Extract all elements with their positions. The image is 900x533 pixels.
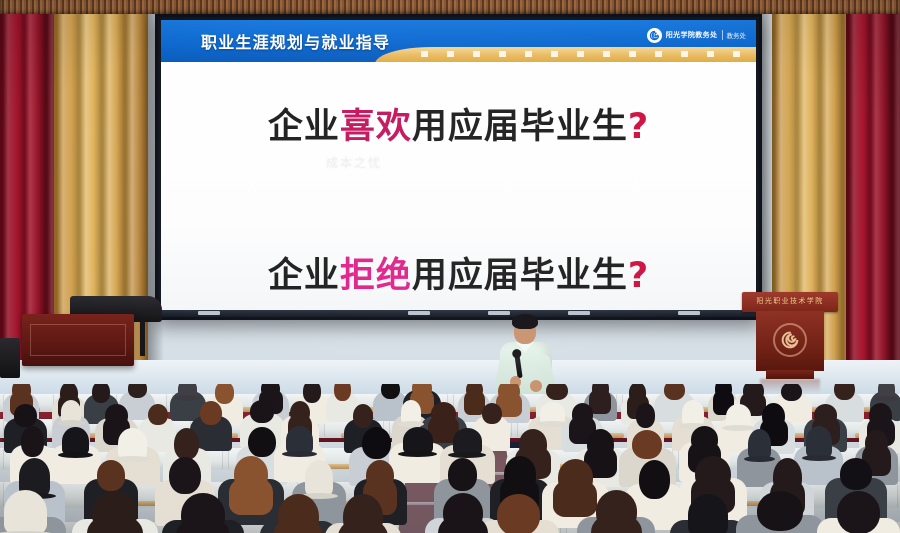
audience-member-head: [448, 458, 478, 491]
grand-piano: [22, 296, 162, 366]
slide-watermark-text: 成本之忧: [326, 154, 382, 171]
podium-body: [756, 311, 824, 371]
spiral-logo-icon: [647, 28, 662, 43]
audience-member-head: [837, 491, 880, 533]
screen-clip: [568, 311, 590, 315]
line1-prefix: 企业: [268, 107, 340, 147]
line2-highlight: 拒绝: [340, 256, 412, 296]
slide-logo-text: 阳光学院教务处: [666, 30, 718, 40]
audience-member-cap: [178, 384, 197, 398]
audience-member-cap: [118, 428, 147, 459]
line1-middle: 用应届毕业生: [412, 107, 628, 147]
line1-question-mark: ?: [628, 107, 649, 147]
audience-member-cap: [4, 490, 47, 533]
audience-member-hair: [589, 389, 611, 414]
audience-member-cap: [806, 426, 832, 458]
audience-area: [0, 384, 900, 533]
audience-member-head: [303, 384, 322, 403]
audience-member-head: [632, 430, 662, 459]
audience-member-head: [482, 403, 502, 425]
lecture-hall-photo: 职业生涯规划与就业指导 阳光学院教务处 教务处 企业喜欢用应届毕业生? 成: [0, 0, 900, 533]
audience-member-head: [148, 404, 167, 426]
audience-member-head: [334, 384, 351, 401]
slide-header-bar: 职业生涯规划与就业指导 阳光学院教务处 教务处: [161, 20, 756, 62]
slide-institution-logo: 阳光学院教务处 教务处: [647, 27, 746, 43]
audience-member-head: [781, 384, 802, 401]
audience-member-head: [639, 460, 670, 498]
audience-member-cap: [453, 428, 482, 454]
audience-member-cap: [748, 429, 771, 459]
line2-middle: 用应届毕业生: [412, 256, 628, 296]
audience-member-head: [97, 460, 126, 491]
slide-logo-subtext: 教务处: [722, 30, 747, 40]
audience-member-head: [21, 426, 44, 456]
projection-screen-surface: 职业生涯规划与就业指导 阳光学院教务处 教务处 企业喜欢用应届毕业生? 成: [161, 20, 756, 310]
audience-member-head: [128, 384, 147, 398]
presenter-hair: [512, 314, 538, 329]
audience-member-head: [248, 427, 275, 457]
audience-member-cap: [305, 460, 333, 496]
audience-member-head: [250, 400, 274, 422]
audience-member-head: [353, 404, 373, 428]
audience-member-hair: [229, 477, 272, 515]
screen-clip: [678, 311, 700, 315]
audience-member-head: [169, 457, 200, 494]
line2-question-mark: ?: [628, 256, 649, 296]
screen-clip: [408, 311, 430, 315]
audience-member-head: [636, 403, 655, 428]
piano-leg: [140, 320, 145, 356]
audience-member-cap: [403, 427, 433, 454]
audience-member-head: [840, 458, 873, 490]
audience-member-cap: [878, 384, 895, 399]
audience-member-head: [14, 404, 36, 427]
slide-question-line-1: 企业喜欢用应届毕业生?: [161, 98, 756, 149]
line1-highlight: 喜欢: [340, 107, 412, 147]
audience-member-head: [497, 494, 539, 533]
screen-bottom-rail: [158, 310, 759, 317]
audience-member-cap: [682, 400, 704, 426]
audience-member-head: [92, 384, 110, 403]
slide-body: 企业喜欢用应届毕业生? 成本之忧 企业拒绝用应届毕业生?: [161, 62, 756, 303]
loudspeaker-cabinet: [0, 338, 20, 378]
slide-question-line-2: 企业拒绝用应届毕业生?: [161, 247, 756, 298]
audience-member-head: [664, 384, 686, 400]
audience-member-head: [381, 384, 400, 399]
audience-member-cap: [726, 404, 751, 429]
audience-member-cap: [62, 427, 89, 455]
projection-screen-frame: 职业生涯规划与就业指导 阳光学院教务处 教务处 企业喜欢用应届毕业生? 成: [155, 14, 762, 320]
audience-member-hair: [553, 479, 597, 517]
audience-member-head: [546, 384, 568, 400]
audience-member-head: [174, 428, 199, 460]
slide-header-gold-swoosh: [375, 47, 756, 62]
podium-top-panel: 阳光职业技术学院: [742, 292, 838, 312]
audience-member-cap: [401, 400, 421, 424]
screen-clip: [198, 311, 220, 315]
spiral-emblem-icon: [773, 323, 807, 357]
audience-member-cap: [688, 494, 728, 533]
line2-prefix: 企业: [268, 256, 340, 296]
podium-institution-label: 阳光职业技术学院: [742, 296, 838, 306]
podium-base: [766, 370, 814, 379]
audience-member-head: [757, 491, 803, 531]
slide-header-title: 职业生涯规划与就业指导: [201, 29, 390, 53]
audience-member-head: [362, 427, 391, 459]
audience-member-head: [215, 384, 235, 404]
audience-member-cap: [61, 400, 81, 423]
red-curtain-right: [846, 14, 900, 386]
wooden-cabinet: [22, 314, 134, 366]
audience-member-head: [200, 401, 222, 425]
audience-member-cap: [286, 426, 313, 454]
lectern-podium: 阳光职业技术学院: [742, 292, 838, 388]
audience-member-hair: [87, 515, 143, 533]
audience-member-cap: [540, 402, 566, 425]
